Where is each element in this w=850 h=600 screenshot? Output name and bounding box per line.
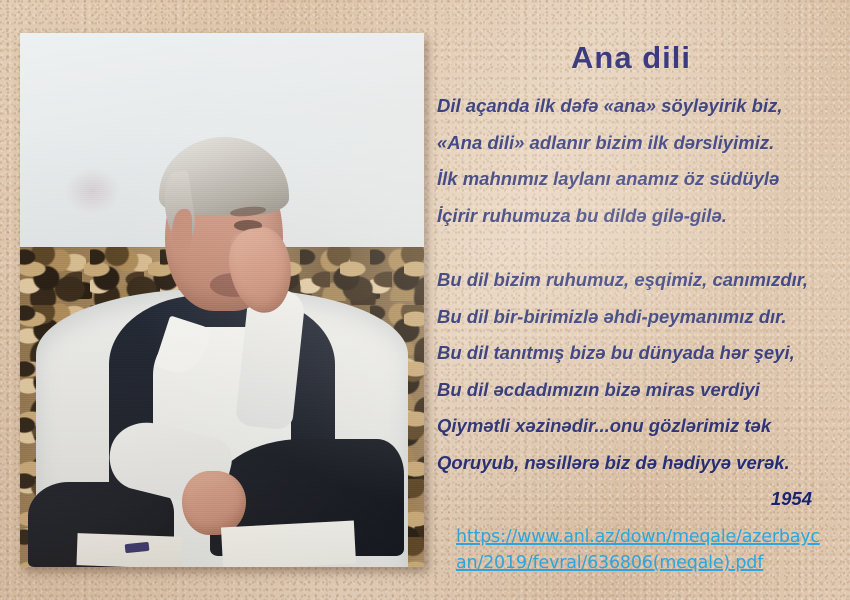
poem-line: Bu dil tanıtmış bizə bu dünyada hər şeyi…	[437, 335, 847, 372]
photo-image	[20, 33, 424, 567]
photo-resting-hand	[182, 471, 247, 535]
poem-line: İçirir ruhumuza bu dildə gilə-gilə.	[437, 198, 847, 235]
poem-body: Dil açanda ilk dəfə «ana» söyləyirik biz…	[437, 88, 847, 518]
poem-line: Bu dil bizim ruhumuz, eşqimiz, canımızdı…	[437, 262, 847, 299]
source-link[interactable]: https://www.anl.az/down/meqale/azerbayca…	[456, 524, 826, 576]
poem-line: «Ana dili» adlanır bizim ilk dərsliyimiz…	[437, 125, 847, 162]
poem-line: Qoruyub, nəsillərə biz də hədiyyə verək.	[437, 445, 847, 482]
poem-stanza: Dil açanda ilk dəfə «ana» söyləyirik biz…	[437, 88, 847, 234]
portrait-photo	[20, 33, 424, 567]
photo-paper-sheet	[221, 521, 356, 567]
poem-line: Bu dil əcdadımızın bizə miras verdiyi	[437, 372, 847, 409]
slide-canvas: Ana dili Dil açanda ilk dəfə «ana» söylə…	[0, 0, 850, 600]
photo-wall-smudge	[64, 167, 121, 215]
poem-line: Dil açanda ilk dəfə «ana» söyləyirik biz…	[437, 88, 847, 125]
poem-line: Qiymətli xəzinədir...onu gözlərimiz tək	[437, 408, 847, 445]
text-column: Ana dili Dil açanda ilk dəfə «ana» söylə…	[434, 0, 850, 600]
poem-stanza: Bu dil bizim ruhumuz, eşqimiz, canımızdı…	[437, 262, 847, 518]
poem-line: İlk mahnımız laylanı anamız öz südüylə	[437, 161, 847, 198]
poem-year: 1954	[437, 481, 847, 518]
photo-ear	[172, 209, 192, 252]
poem-title: Ana dili	[434, 40, 828, 76]
poem-line: Bu dil bir-birimizlə əhdi-peymanımız dır…	[437, 299, 847, 336]
